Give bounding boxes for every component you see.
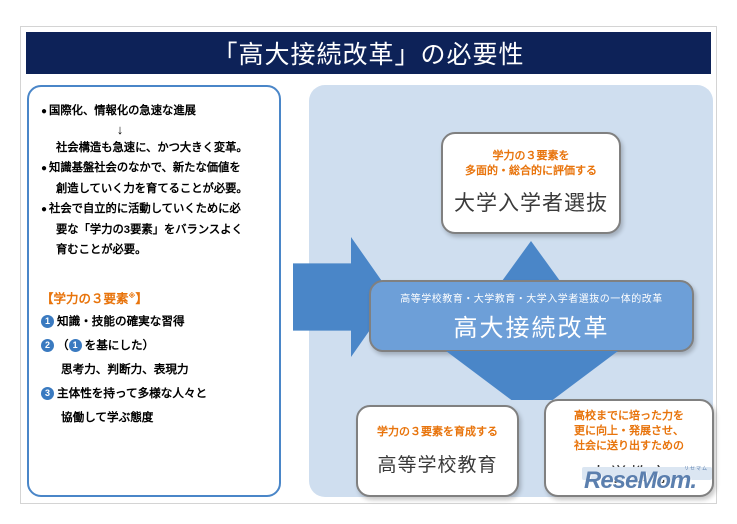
page-title: 「高大接続改革」の必要性 [212,35,524,71]
numbered-item-2-text-pre: （ [57,339,69,352]
numbered-item-3-text: 主体性を持って多様な人々と [57,387,207,400]
bullet-item-2-text: 知識基盤社会のなかで、新たな価値を [49,162,241,174]
bullet-item-3-text: 社会で自立的に活動していくために必 [49,203,241,215]
node-high-school-education: 学力の３要素を育成する 高等学校教育 [356,405,519,497]
three-elements-heading-open: 【学力の３要素 [41,292,129,306]
left-info-panel: ●国際化、情報化の急速な進展 ↓ 社会構造も急速に、かつ大きく変革。 ●知識基盤… [27,85,281,497]
numbered-item-3-sub: 協働して学ぶ態度 [41,406,269,430]
bullet-item-2: ●知識基盤社会のなかで、新たな価値を [41,158,269,179]
number-circle-1-icon: 1 [41,315,54,328]
bullet-marker-icon: ● [41,106,47,117]
resemom-watermark: ReseMom. リセマム [582,461,712,503]
node-university-admission-title: 大学入学者選抜 [454,187,608,217]
node-center-title: 高大接続改革 [454,308,610,343]
slide-title-bar: 「高大接続改革」の必要性 [26,32,711,74]
node-university-admission: 学力の３要素を 多面的・総合的に評価する 大学入学者選抜 [441,132,621,234]
node-university-admission-caption-line2: 多面的・総合的に評価する [465,164,597,179]
bullet-marker-icon: ● [41,204,47,215]
numbered-item-1: 1知識・技能の確実な習得 [41,310,269,334]
bullet-item-1-continued: 社会構造も急速に、かつ大きく変革。 [41,138,269,158]
watermark-subtext: リセマム [684,465,708,472]
number-circle-1-inline-icon: 1 [69,339,82,352]
bullet-item-3: ●社会で自立的に活動していくために必 [41,199,269,220]
bullet-item-3-continued-b: 育むことが必要。 [41,240,269,260]
bullet-item-1: ●国際化、情報化の急速な進展 [41,101,269,122]
numbered-item-3: 3主体性を持って多様な人々と [41,382,269,406]
number-circle-3-icon: 3 [41,387,54,400]
bullet-item-2-continued: 創造していく力を育てることが必要。 [41,179,269,199]
numbered-item-2: 2（1を基にした） [41,334,269,358]
node-university-education-caption-line1: 高校までに培った力を [574,409,684,424]
three-elements-heading-close: 】 [135,292,148,306]
number-circle-2-icon: 2 [41,339,54,352]
bullet-marker-icon: ● [41,163,47,174]
node-university-education-caption-line2: 更に向上・発展させ、 [574,424,684,439]
numbered-item-1-text: 知識・技能の確実な習得 [57,315,185,328]
watermark-text: ReseMom. [584,467,696,495]
numbered-item-2-sub: 思考力、判断力、表現力 [41,358,269,382]
node-high-school-education-title: 高等学校教育 [377,450,497,477]
slide-canvas: 「高大接続改革」の必要性 ●国際化、情報化の急速な進展 ↓ 社会構造も急速に、か… [20,26,717,504]
node-university-education-caption-line3: 社会に送り出すための [574,439,684,454]
bullet-item-3-continued-a: 要な「学力の3要素」をバランスよく [41,220,269,240]
node-koudai-setsuzoku-reform: 高等学校教育・大学教育・大学入学者選抜の一体的改革 高大接続改革 [369,280,694,352]
numbered-item-2-text-post: を基にした） [85,339,155,352]
node-high-school-education-caption: 学力の３要素を育成する [377,425,498,440]
node-center-subtitle: 高等学校教育・大学教育・大学入学者選抜の一体的改革 [400,290,663,305]
down-arrow-icon: ↓ [41,122,269,138]
node-university-admission-caption-line1: 学力の３要素を [493,149,570,164]
bullet-item-1-text: 国際化、情報化の急速な進展 [49,105,196,117]
three-elements-heading: 【学力の３要素※】 [41,286,269,310]
